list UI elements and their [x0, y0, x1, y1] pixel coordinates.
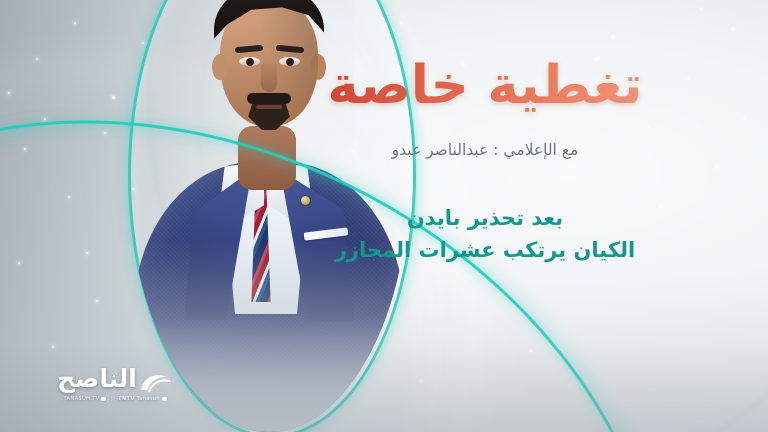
channel-logo: الناصح Tanasuh TNTV | TANASUH.TV — [50, 366, 180, 402]
social-icon — [101, 397, 106, 402]
handle-1-prefix: Tanasuh — [137, 396, 160, 402]
presenter-credit: مع الإعلامي : عبدالناصر عبدو — [250, 141, 720, 159]
logo-wordmark-row: الناصح — [50, 366, 180, 391]
broadcast-graphic: تغطية خاصة مع الإعلامي : عبدالناصر عبدو … — [0, 0, 768, 432]
handle-2-name: TANASUH.TV — [63, 396, 99, 402]
channel-name: الناصح — [57, 366, 137, 391]
handle-separator: | — [111, 396, 113, 402]
background-bottom-shade — [0, 268, 768, 432]
logo-swoosh-icon — [139, 371, 173, 393]
social-icon — [162, 397, 167, 402]
text-block: تغطية خاصة مع الإعلامي : عبدالناصر عبدو … — [250, 56, 720, 266]
social-handle-1: Tanasuh TNTV — [118, 396, 166, 402]
headline-line-2: الكيان يرتكب عشرات المجازر — [250, 235, 720, 267]
social-handle-2: TANASUH.TV — [63, 396, 106, 402]
program-title: تغطية خاصة — [250, 56, 720, 115]
social-handles: Tanasuh TNTV | TANASUH.TV — [50, 396, 180, 402]
news-headline: بعد تحذير بايدن الكيان يرتكب عشرات المجا… — [250, 203, 720, 266]
headline-line-1: بعد تحذير بايدن — [250, 203, 720, 235]
handle-1-name: TNTV — [118, 396, 135, 402]
